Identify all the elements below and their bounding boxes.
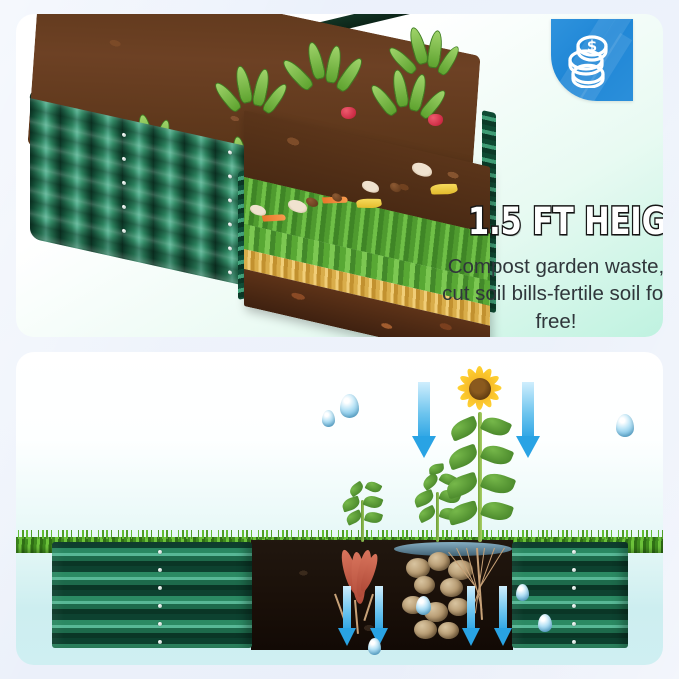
bed-rivet [572,586,576,590]
water-arrow-down [516,382,540,462]
bed-rivet [572,640,576,644]
sunflower-center [469,378,491,400]
water-droplet [340,394,359,418]
bed-rivet [158,622,162,626]
water-droplet [322,410,335,427]
drainage-arrow-down [338,586,356,650]
banana-peel-scrap [355,199,382,209]
water-droplet [616,414,634,437]
carrot-scrap [262,214,287,221]
infographic-root: 1.5 FT HEIGHT Compost garden waste, cut … [0,0,679,679]
brand-logo: $ [551,19,633,101]
bed-rivet [158,550,162,554]
bed-rivet [572,604,576,608]
body-copy-compost: Compost garden waste, cut soil bills-fer… [425,253,663,335]
bottomless-drainage-illustration [16,352,663,665]
bed-rivet [158,586,162,590]
bed-wall-right [512,542,628,648]
water-arrow-down [412,382,436,462]
bed-rivet [158,604,162,608]
drainage-arrow-down [462,586,480,650]
drainage-arrow-down [494,586,512,650]
headline-height: 1.5 FT HEIGHT [468,200,663,243]
dollar-symbol: $ [587,37,597,55]
radish-root [341,107,356,119]
radish-root [428,114,443,126]
water-droplet [516,584,529,601]
bed-rivet [572,622,576,626]
water-droplet [416,596,431,615]
bed-rivet [158,640,162,644]
bed-rivet [158,568,162,572]
bed-rivet [572,568,576,572]
grass-tips [16,530,663,539]
water-droplet [538,614,552,632]
coin-stack-dollar-icon: $ [566,32,618,88]
panel-bottomless-feature: BOTTOMLESS Promotes robust growth of roo… [16,352,663,665]
water-droplet [368,638,381,655]
bed-rivet [572,550,576,554]
bed-wall-left [52,542,252,648]
